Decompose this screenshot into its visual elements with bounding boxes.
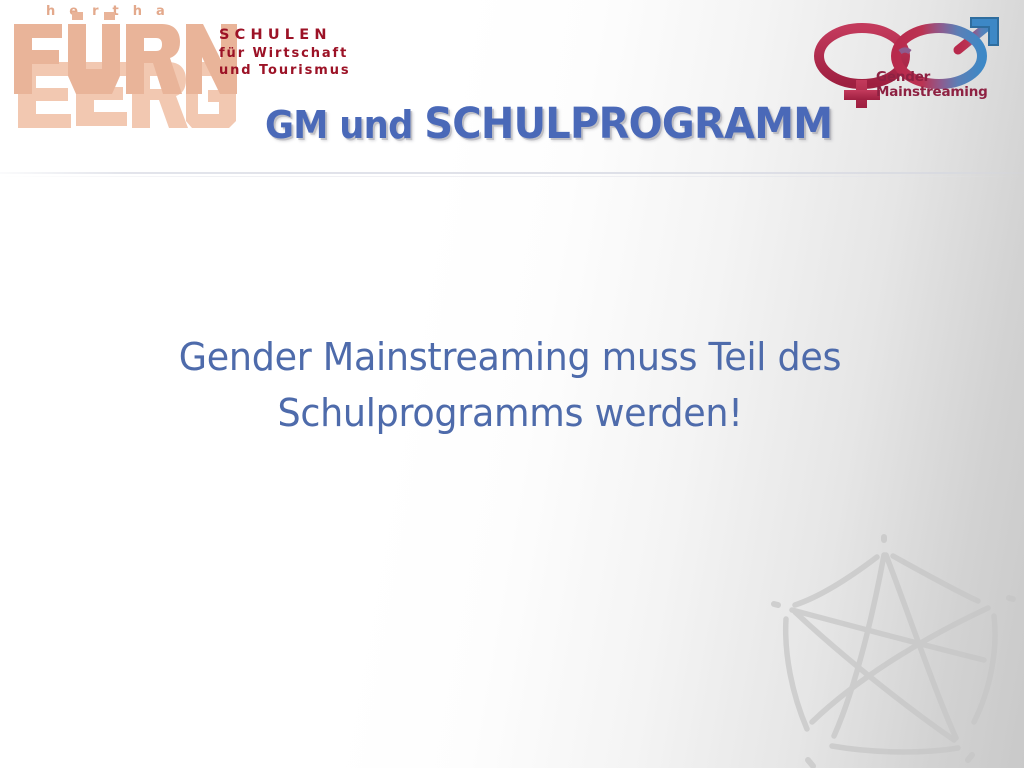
- schulen-line-2: für Wirtschaft: [219, 45, 351, 62]
- hertha-fuernberg-logo: hertha: [12, 2, 237, 157]
- gm-caption-line-1: Gender: [876, 70, 988, 85]
- page-title: GM und SCHULPROGRAMM: [265, 99, 832, 149]
- page-title-rest: SCHULPROGRAMM: [424, 99, 832, 149]
- page-title-lead: GM und: [265, 103, 424, 147]
- presentation-slide: hertha: [0, 0, 1024, 768]
- slide-body: Gender Mainstreaming muss Teil des Schul…: [60, 330, 960, 442]
- schulen-line-1: SCHULEN: [219, 26, 351, 45]
- schulen-subtitle-block: SCHULEN für Wirtschaft und Tourismus: [219, 26, 351, 79]
- decorative-pentagram-graphic: [762, 524, 1024, 768]
- body-statement: Gender Mainstreaming muss Teil des Schul…: [78, 330, 942, 442]
- header-divider: [0, 172, 1024, 174]
- schulen-line-3: und Tourismus: [219, 62, 351, 79]
- gender-mainstreaming-caption: Gender Mainstreaming: [876, 70, 988, 101]
- gm-caption-line-2: Mainstreaming: [876, 85, 988, 100]
- logo-fuernberg-blockletters: [12, 12, 237, 157]
- slide-header: hertha: [0, 0, 1024, 175]
